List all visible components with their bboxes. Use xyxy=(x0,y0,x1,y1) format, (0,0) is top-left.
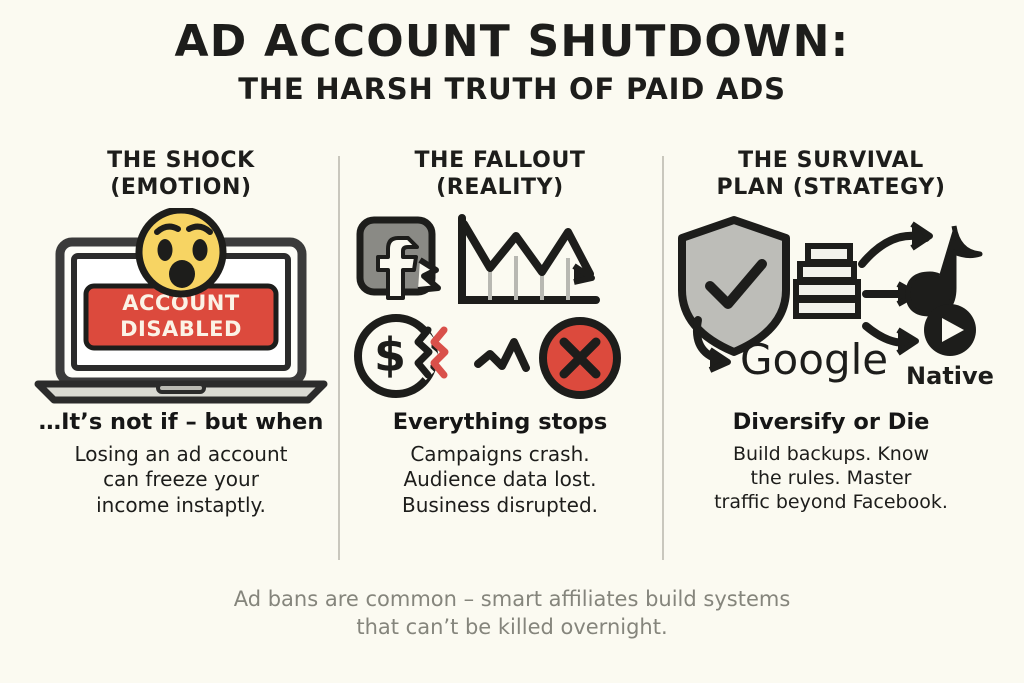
play-button-icon xyxy=(924,304,976,356)
column-fallout-heading: The Fallout (Reality) xyxy=(414,148,585,202)
page-title: Ad Account Shutdown: xyxy=(0,18,1024,66)
stacked-layers-icon xyxy=(796,246,858,316)
account-disabled-banner-line2: DISABLED xyxy=(120,317,242,341)
column-shock-body: Losing an ad account can freeze your inc… xyxy=(68,442,293,519)
column-shock-heading-line1: The Shock xyxy=(107,148,255,173)
column-survival-heading-line1: The Survival xyxy=(738,148,924,173)
column-fallout-body-line3: Business disrupted. xyxy=(402,493,598,517)
dollar-sign-glyph: $ xyxy=(374,328,406,382)
declining-chart-icon xyxy=(462,218,596,300)
column-shock-artwork: ACCOUNT DISABLED xyxy=(24,208,338,408)
column-fallout-body-line2: Audience data lost. xyxy=(403,467,596,491)
column-shock-headline: …It’s not if – but when xyxy=(39,410,324,436)
column-survival-body: Build backups. Know the rules. Master tr… xyxy=(708,442,954,515)
column-survival-heading-line2: Plan (Strategy) xyxy=(717,175,946,200)
shocked-face-emoji xyxy=(139,210,223,294)
column-group: The Shock (Emotion) ACCOUNT DISABLED xyxy=(24,142,1000,562)
column-survival-artwork: Google Native xyxy=(662,208,1000,408)
column-survival: The Survival Plan (Strategy) xyxy=(662,142,1000,562)
column-fallout-heading-line2: (Reality) xyxy=(436,175,564,200)
footer-note-line2: that can’t be killed overnight. xyxy=(356,615,667,639)
zigzag-line-icon xyxy=(478,342,526,368)
column-shock-body-line2: can freeze your xyxy=(103,467,259,491)
column-survival-body-line2: the rules. Master xyxy=(751,467,912,489)
column-shock: The Shock (Emotion) ACCOUNT DISABLED xyxy=(24,142,338,562)
facebook-broken-icon xyxy=(360,220,438,298)
column-shock-heading: The Shock (Emotion) xyxy=(107,148,255,202)
column-fallout-body: Campaigns crash. Audience data lost. Bus… xyxy=(396,442,604,519)
red-x-circle-icon xyxy=(543,321,617,395)
column-fallout: The Fallout (Reality) xyxy=(338,142,662,562)
native-label: Native xyxy=(906,362,994,390)
infographic-poster: Ad Account Shutdown: The Harsh Truth of … xyxy=(0,0,1024,683)
google-wordmark-label: Google xyxy=(740,335,888,384)
column-fallout-headline: Everything stops xyxy=(393,410,608,436)
title-block: Ad Account Shutdown: The Harsh Truth of … xyxy=(0,18,1024,106)
footer-note: Ad bans are common – smart affiliates bu… xyxy=(0,586,1024,641)
column-shock-body-line1: Losing an ad account xyxy=(74,442,287,466)
column-fallout-body-line1: Campaigns crash. xyxy=(410,442,589,466)
column-shock-heading-line2: (Emotion) xyxy=(110,175,251,200)
cracked-dollar-coin-icon: $ xyxy=(358,318,445,394)
footer-note-line1: Ad bans are common – smart affiliates bu… xyxy=(234,587,791,611)
column-fallout-heading-line1: The Fallout xyxy=(414,148,585,173)
survival-icon-cluster: Google Native xyxy=(662,208,1000,408)
fallout-icon-cluster: $ xyxy=(338,208,662,408)
column-survival-body-line3: traffic beyond Facebook. xyxy=(714,491,948,513)
page-subtitle: The Harsh Truth of Paid Ads xyxy=(0,72,1024,106)
column-survival-headline: Diversify or Die xyxy=(733,410,930,436)
laptop-account-disabled-illustration: ACCOUNT DISABLED xyxy=(24,208,338,408)
column-survival-body-line1: Build backups. Know xyxy=(733,443,929,465)
column-fallout-artwork: $ xyxy=(338,208,662,408)
column-survival-heading: The Survival Plan (Strategy) xyxy=(717,148,946,202)
column-shock-body-line3: income instaptly. xyxy=(96,493,266,517)
